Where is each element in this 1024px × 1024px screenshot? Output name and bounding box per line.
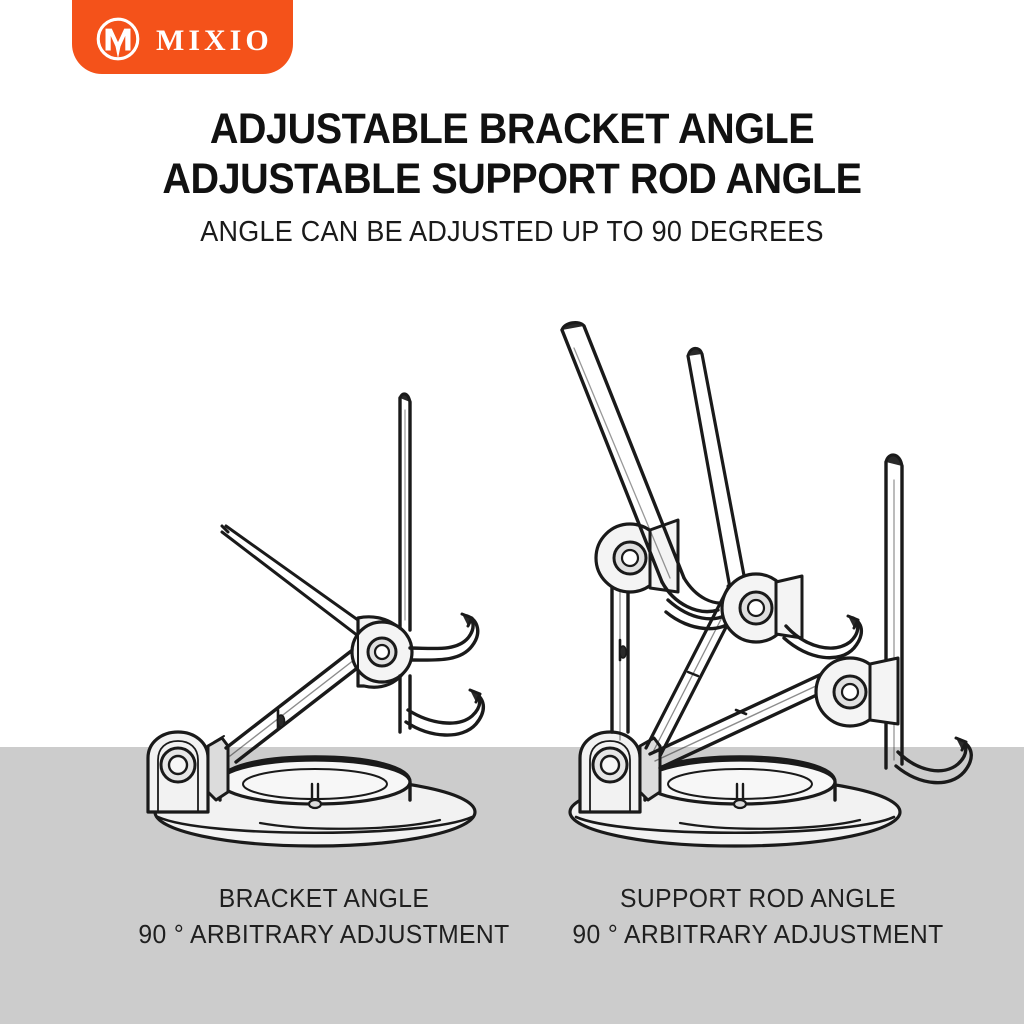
product-feature-graphic: MIXIO ADJUSTABLE BRACKET ANGLE ADJUSTABL… [0, 0, 1024, 1024]
phone-stand-illustration-right [550, 320, 980, 850]
caption-bracket-angle: BRACKET ANGLE 90 ° ARBITRARY ADJUSTMENT [106, 880, 543, 952]
heading-block: ADJUSTABLE BRACKET ANGLE ADJUSTABLE SUPP… [0, 104, 1024, 252]
brand-wordmark: MIXIO [156, 26, 273, 56]
mixio-monogram-icon [92, 13, 144, 65]
brand-badge: MIXIO [72, 0, 293, 74]
title-line-1: ADJUSTABLE BRACKET ANGLE [41, 104, 983, 154]
phone-stand-illustration-left [110, 380, 530, 850]
caption-support-rod-angle: SUPPORT ROD ANGLE 90 ° ARBITRARY ADJUSTM… [540, 880, 977, 952]
caption-left-line-1: BRACKET ANGLE [106, 880, 543, 916]
phone-stand-bracket-low-angle-icon [110, 380, 530, 850]
caption-right-line-2: 90 ° ARBITRARY ADJUSTMENT [540, 916, 977, 952]
caption-right-line-1: SUPPORT ROD ANGLE [540, 880, 977, 916]
caption-left-line-2: 90 ° ARBITRARY ADJUSTMENT [106, 916, 543, 952]
title-line-2: ADJUSTABLE SUPPORT ROD ANGLE [41, 154, 983, 204]
subtitle: ANGLE CAN BE ADJUSTED UP TO 90 DEGREES [36, 212, 988, 252]
phone-stand-support-rod-high-angle-icon [550, 320, 980, 850]
